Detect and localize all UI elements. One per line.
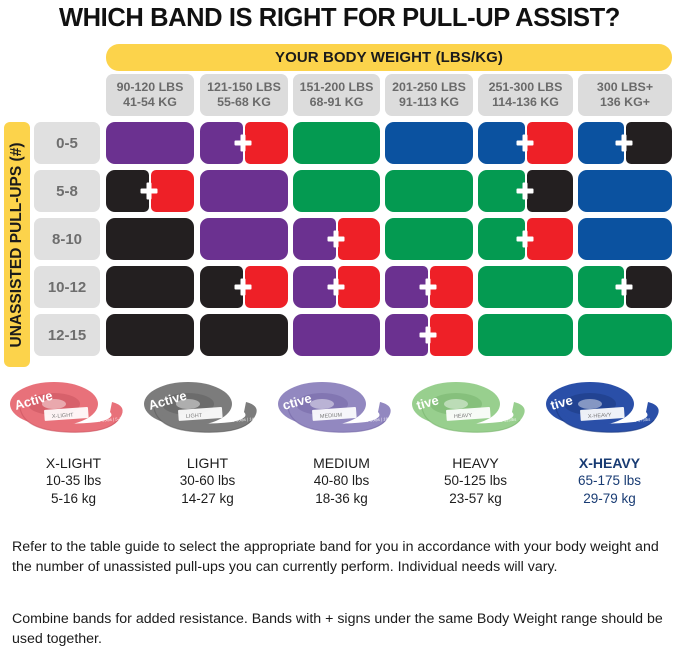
band-swatch-purple (293, 218, 336, 260)
table-cell-r1-c3[interactable] (293, 122, 380, 164)
band-image-medium: ctiveMEDIUM40-80lbs | 18-36kg (274, 378, 409, 450)
band-swatch-black (200, 314, 288, 356)
table-cell-r5-c2[interactable] (200, 314, 288, 356)
plus-icon (616, 135, 633, 152)
band-swatch-black (106, 218, 194, 260)
band-gallery: ActiveX-LIGHT10-35lbs | 5-16kgX-LIGHT10-… (0, 378, 679, 523)
column-header-lbs: 300 LBS+ (597, 80, 653, 95)
column-header-kg: 136 KG+ (600, 95, 650, 110)
band-kg: 14-27 kg (140, 490, 275, 508)
column-header-4: 201-250 LBS91-113 KG (385, 74, 473, 116)
band-swatch-purple (200, 218, 288, 260)
band-card-x-heavy: tiveX-HEAVY65-175lbsX-HEAVY65-175 lbs29-… (542, 378, 677, 523)
band-swatch-purple (200, 170, 288, 212)
band-swatch-purple (385, 266, 428, 308)
band-swatch-purple (293, 314, 380, 356)
plus-icon (516, 183, 533, 200)
table-cell-r1-c6[interactable] (578, 122, 672, 164)
band-swatch-black (106, 314, 194, 356)
column-header-kg: 55-68 KG (217, 95, 271, 110)
row-label-8-10: 8-10 (34, 218, 100, 260)
band-swatch-green (293, 122, 380, 164)
row-label-5-8: 5-8 (34, 170, 100, 212)
page-title: WHICH BAND IS RIGHT FOR PULL-UP ASSIST? (0, 4, 679, 33)
note-combine-bands: Combine bands for added resistance. Band… (12, 610, 667, 649)
band-card-x-light: ActiveX-LIGHT10-35lbs | 5-16kgX-LIGHT10-… (6, 378, 141, 523)
plus-icon (235, 135, 252, 152)
band-image-x-light: ActiveX-LIGHT10-35lbs | 5-16kg (6, 378, 141, 450)
table-cell-r4-c6[interactable] (578, 266, 672, 308)
band-image-x-heavy: tiveX-HEAVY65-175lbs (542, 378, 677, 450)
pullups-axis-label: UNASSISTED PULL-UPS (#) (4, 122, 30, 367)
table-cell-r5-c4[interactable] (385, 314, 473, 356)
band-lbs: 40-80 lbs (274, 472, 409, 490)
plus-icon (616, 279, 633, 296)
column-header-lbs: 151-200 LBS (300, 80, 374, 95)
column-header-1: 90-120 LBS41-54 KG (106, 74, 194, 116)
plus-icon (420, 327, 437, 344)
band-kg: 5-16 kg (6, 490, 141, 508)
row-label-12-15: 12-15 (34, 314, 100, 356)
band-weight-range: 40-80 lbs18-36 kg (274, 472, 409, 508)
svg-text:LIGHT: LIGHT (186, 413, 203, 420)
plus-icon (516, 135, 533, 152)
table-cell-r1-c1[interactable] (106, 122, 194, 164)
band-name: HEAVY (408, 454, 543, 472)
band-swatch-green (478, 170, 525, 212)
table-cell-r1-c5[interactable] (478, 122, 573, 164)
band-card-medium: ctiveMEDIUM40-80lbs | 18-36kgMEDIUM40-80… (274, 378, 409, 523)
row-label-10-12: 10-12 (34, 266, 100, 308)
band-weight-range: 10-35 lbs5-16 kg (6, 472, 141, 508)
table-cell-r2-c2[interactable] (200, 170, 288, 212)
column-header-5: 251-300 LBS114-136 KG (478, 74, 573, 116)
band-card-light: ActiveLIGHT30-60lbs | 14-27kgLIGHT30-60 … (140, 378, 275, 523)
pullups-axis-label-text: UNASSISTED PULL-UPS (#) (8, 142, 26, 347)
band-swatch-green (385, 218, 473, 260)
table-cell-r2-c3[interactable] (293, 170, 380, 212)
plus-icon (420, 279, 437, 296)
table-cell-r5-c6[interactable] (578, 314, 672, 356)
band-image-heavy: tiveHEAVY50-125lbs (408, 378, 543, 450)
band-swatch-black (626, 266, 672, 308)
table-cell-r3-c3[interactable] (293, 218, 380, 260)
table-cell-r4-c5[interactable] (478, 266, 573, 308)
column-header-kg: 91-113 KG (399, 95, 459, 110)
table-cell-r4-c3[interactable] (293, 266, 380, 308)
column-header-lbs: 201-250 LBS (392, 80, 466, 95)
plus-icon (516, 231, 533, 248)
band-card-heavy: tiveHEAVY50-125lbsHEAVY50-125 lbs23-57 k… (408, 378, 543, 523)
table-cell-r5-c3[interactable] (293, 314, 380, 356)
band-name: LIGHT (140, 454, 275, 472)
table-cell-r4-c4[interactable] (385, 266, 473, 308)
band-kg: 18-36 kg (274, 490, 409, 508)
table-cell-r3-c1[interactable] (106, 218, 194, 260)
band-swatch-black (200, 266, 243, 308)
band-swatch-blue (478, 122, 525, 164)
table-cell-r5-c1[interactable] (106, 314, 194, 356)
table-cell-r2-c6[interactable] (578, 170, 672, 212)
band-weight-range: 30-60 lbs14-27 kg (140, 472, 275, 508)
band-swatch-purple (200, 122, 243, 164)
column-header-lbs: 251-300 LBS (489, 80, 563, 95)
band-swatch-black (106, 170, 149, 212)
band-swatch-red (527, 122, 574, 164)
table-cell-r4-c2[interactable] (200, 266, 288, 308)
column-header-lbs: 90-120 LBS (117, 80, 184, 95)
table-cell-r3-c4[interactable] (385, 218, 473, 260)
band-swatch-purple (106, 122, 194, 164)
band-swatch-blue (578, 122, 624, 164)
band-swatch-green (293, 170, 380, 212)
column-header-2: 121-150 LBS55-68 KG (200, 74, 288, 116)
band-swatch-black (106, 266, 194, 308)
band-swatch-green (385, 170, 473, 212)
column-header-kg: 114-136 KG (492, 95, 559, 110)
table-cell-r5-c5[interactable] (478, 314, 573, 356)
column-header-kg: 41-54 KG (123, 95, 177, 110)
band-kg: 29-79 kg (542, 490, 677, 508)
column-header-3: 151-200 LBS68-91 KG (293, 74, 380, 116)
band-name: X-LIGHT (6, 454, 141, 472)
band-name: MEDIUM (274, 454, 409, 472)
column-header-kg: 68-91 KG (310, 95, 364, 110)
column-header-6: 300 LBS+136 KG+ (578, 74, 672, 116)
plus-icon (327, 231, 344, 248)
band-lbs: 30-60 lbs (140, 472, 275, 490)
band-swatch-blue (578, 170, 672, 212)
row-label-0-5: 0-5 (34, 122, 100, 164)
table-cell-r3-c6[interactable] (578, 218, 672, 260)
band-swatch-black (626, 122, 672, 164)
band-kg: 23-57 kg (408, 490, 543, 508)
band-swatch-green (478, 314, 573, 356)
band-image-light: ActiveLIGHT30-60lbs | 14-27kg (140, 378, 275, 450)
band-swatch-black (527, 170, 574, 212)
plus-icon (235, 279, 252, 296)
band-name: X-HEAVY (542, 454, 677, 472)
band-lbs: 50-125 lbs (408, 472, 543, 490)
table-cell-r2-c4[interactable] (385, 170, 473, 212)
band-selection-table: YOUR BODY WEIGHT (LBS/KG) 90-120 LBS41-5… (0, 44, 679, 369)
table-cell-r4-c1[interactable] (106, 266, 194, 308)
table-cell-r2-c5[interactable] (478, 170, 573, 212)
band-swatch-purple (293, 266, 336, 308)
note-table-guide: Refer to the table guide to select the a… (12, 538, 667, 577)
column-headers: 90-120 LBS41-54 KG121-150 LBS55-68 KG151… (106, 74, 672, 116)
band-weight-range: 65-175 lbs29-79 kg (542, 472, 677, 508)
band-swatch-green (478, 218, 525, 260)
table-cell-r1-c4[interactable] (385, 122, 473, 164)
table-cell-r3-c5[interactable] (478, 218, 573, 260)
band-weight-range: 50-125 lbs23-57 kg (408, 472, 543, 508)
table-cell-r1-c2[interactable] (200, 122, 288, 164)
band-swatch-blue (385, 122, 473, 164)
band-swatch-purple (385, 314, 428, 356)
band-lbs: 65-175 lbs (542, 472, 677, 490)
band-swatch-green (578, 314, 672, 356)
plus-icon (141, 183, 158, 200)
band-swatch-green (578, 266, 624, 308)
table-cell-r2-c1[interactable] (106, 170, 194, 212)
band-lbs: 10-35 lbs (6, 472, 141, 490)
table-cell-r3-c2[interactable] (200, 218, 288, 260)
plus-icon (327, 279, 344, 296)
band-swatch-red (527, 218, 574, 260)
band-swatch-blue (578, 218, 672, 260)
bodyweight-header: YOUR BODY WEIGHT (LBS/KG) (106, 44, 672, 71)
column-header-lbs: 121-150 LBS (207, 80, 281, 95)
band-swatch-green (478, 266, 573, 308)
